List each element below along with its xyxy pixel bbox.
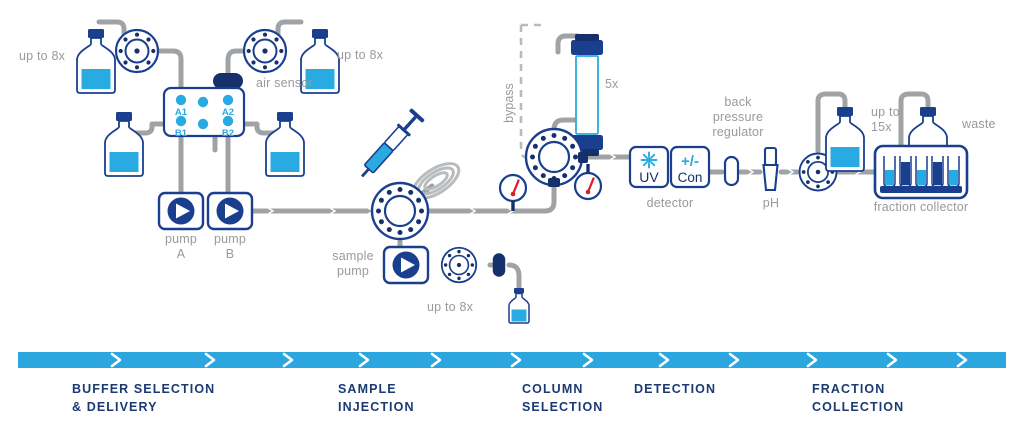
back-pressure-regulator-label-line2: pressure <box>693 110 783 124</box>
pump-a-label-line1: pump <box>153 232 209 246</box>
inlet-valve-left[interactable] <box>116 30 158 72</box>
sample-air-sensor-icon <box>493 253 505 276</box>
pump-b-label-line1: pump <box>202 232 258 246</box>
stage-label-column: COLUMN SELECTION <box>522 380 603 416</box>
pump-a-icon[interactable] <box>159 193 203 229</box>
buffer-bottle-top-left <box>77 29 115 93</box>
stage-label-detection: DETECTION <box>634 380 716 398</box>
stage-label-sample: SAMPLE INJECTION <box>338 380 415 416</box>
manifold-port-mid-bottom[interactable] <box>198 119 208 129</box>
sample-inlet-valve[interactable] <box>442 248 476 282</box>
manifold-port-a2[interactable] <box>223 95 233 105</box>
syringe-icon <box>355 108 425 182</box>
con-symbol-label: +/- <box>681 153 699 170</box>
fraction-multiplier-label-line1: up to <box>871 105 900 119</box>
fraction-multiplier-label-line2: 15x <box>871 120 892 134</box>
bypass-label: bypass <box>502 83 516 123</box>
back-pressure-regulator-label-line3: regulator <box>693 125 783 139</box>
manifold-port-mid-top[interactable] <box>198 97 208 107</box>
pressure-gauge-pre-column <box>500 175 526 211</box>
stage-banner <box>18 352 1006 368</box>
port-label-b1: B1 <box>175 128 188 139</box>
air-sensor-icon <box>213 73 243 89</box>
sample-multiplier-label: up to 8x <box>427 300 473 314</box>
back-pressure-regulator-label-line1: back <box>693 95 783 109</box>
sample-pump-label-line2: pump <box>323 264 383 278</box>
uv-sunburst-icon <box>642 153 657 168</box>
column-valve[interactable] <box>526 129 582 185</box>
injection-valve[interactable] <box>372 183 428 239</box>
uv-label: UV <box>639 169 659 185</box>
diagram-canvas: A1 B1 A2 B2 UV +/- Con 5x bypass up to 8… <box>0 0 1024 425</box>
buffer-right-multiplier-label: up to 8x <box>337 48 383 62</box>
buffer-left-multiplier-label: up to 8x <box>19 49 65 63</box>
waste-label: waste <box>962 117 996 131</box>
buffer-bottle-bottom-right <box>266 112 304 176</box>
air-sensor-label: air sensor <box>256 76 313 90</box>
pump-b-icon[interactable] <box>208 193 252 229</box>
port-label-a2: A2 <box>222 107 234 118</box>
fraction-collector-label: fraction collector <box>866 200 976 214</box>
port-label-a1: A1 <box>175 107 188 118</box>
fraction-collector-icon[interactable] <box>875 146 967 198</box>
stage-label-buffer: BUFFER SELECTION & DELIVERY <box>72 380 215 416</box>
stage-label-fraction: FRACTION COLLECTION <box>812 380 904 416</box>
sample-bottle <box>509 288 529 323</box>
detector-label: detector <box>640 196 700 210</box>
ph-sensor-icon <box>764 148 778 190</box>
inlet-valve-right[interactable] <box>244 30 286 72</box>
port-label-b2: B2 <box>222 128 234 139</box>
ph-label: pH <box>752 196 790 210</box>
con-label: Con <box>678 170 703 185</box>
pump-b-label-line2: B <box>202 247 258 261</box>
sample-pump-icon[interactable] <box>384 247 428 283</box>
manifold-port-a1[interactable] <box>176 95 186 105</box>
column-multiplier-label: 5x <box>605 77 619 91</box>
collection-bottle <box>826 107 864 171</box>
buffer-bottle-bottom-left <box>105 112 143 176</box>
pump-a-label-line2: A <box>153 247 209 261</box>
sample-pump-label-line1: sample <box>323 249 383 263</box>
back-pressure-regulator-icon <box>725 157 738 185</box>
